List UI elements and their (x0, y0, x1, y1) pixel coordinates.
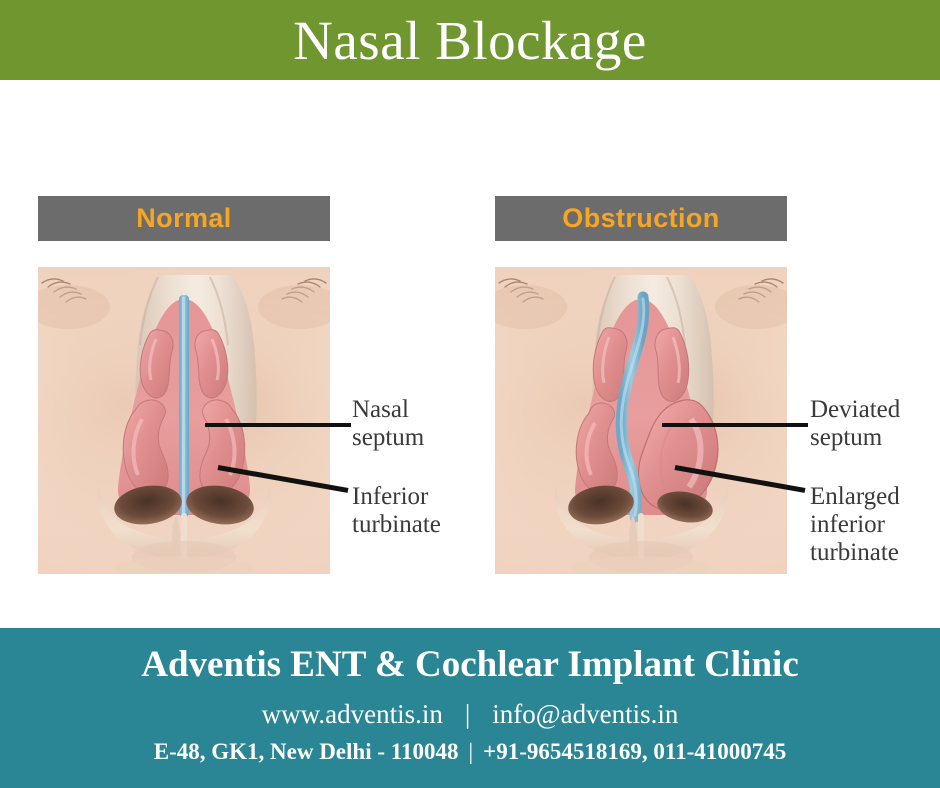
annotation-line: turbinate (810, 539, 900, 567)
obstructed-nasal-cavity-svg (495, 267, 787, 574)
clinic-phones: +91-9654518169, 011-41000745 (483, 739, 786, 765)
annotation-line: Enlarged (810, 483, 900, 511)
panel-obstruction: Obstruction (495, 196, 787, 574)
annotation-deviated-septum: Deviated septum (810, 396, 900, 452)
normal-nasal-cavity-svg (38, 267, 330, 574)
panel-label-bar-obstruction: Obstruction (495, 196, 787, 241)
annotation-line: Nasal (352, 396, 424, 424)
contact-separator: | (443, 699, 492, 730)
leader-line-nasal-septum (205, 423, 351, 427)
annotation-line: Deviated (810, 396, 900, 424)
panel-label-normal: Normal (136, 203, 231, 234)
annotation-enlarged-inferior-turbinate: Enlarged inferior turbinate (810, 483, 900, 567)
annotation-inferior-turbinate: Inferior turbinate (352, 483, 441, 539)
leader-line-deviated-septum (662, 423, 808, 427)
annotation-line: Inferior (352, 483, 441, 511)
clinic-name: Adventis ENT & Cochlear Implant Clinic (141, 646, 799, 685)
header-banner: Nasal Blockage (0, 0, 940, 80)
annotation-nasal-septum: Nasal septum (352, 396, 424, 452)
footer-banner: Adventis ENT & Cochlear Implant Clinic w… (0, 628, 940, 788)
illustration-normal-nasal-anatomy (38, 267, 330, 574)
panel-label-obstruction: Obstruction (562, 203, 719, 234)
clinic-address: E-48, GK1, New Delhi - 110048 (154, 739, 459, 765)
page-title: Nasal Blockage (293, 13, 647, 68)
footer-address-row: E-48, GK1, New Delhi - 110048 | +91-9654… (154, 739, 787, 765)
annotation-line: inferior (810, 511, 900, 539)
panel-normal: Normal (38, 196, 330, 574)
annotation-line: turbinate (352, 511, 441, 539)
address-separator: | (458, 739, 483, 765)
website-link[interactable]: www.adventis.in (262, 699, 443, 730)
email-link[interactable]: info@adventis.in (492, 699, 678, 730)
footer-contact-row: www.adventis.in | info@adventis.in (262, 699, 679, 730)
annotation-line: septum (810, 424, 900, 452)
annotation-line: septum (352, 424, 424, 452)
panel-label-bar-normal: Normal (38, 196, 330, 241)
illustration-obstructed-nasal-anatomy (495, 267, 787, 574)
